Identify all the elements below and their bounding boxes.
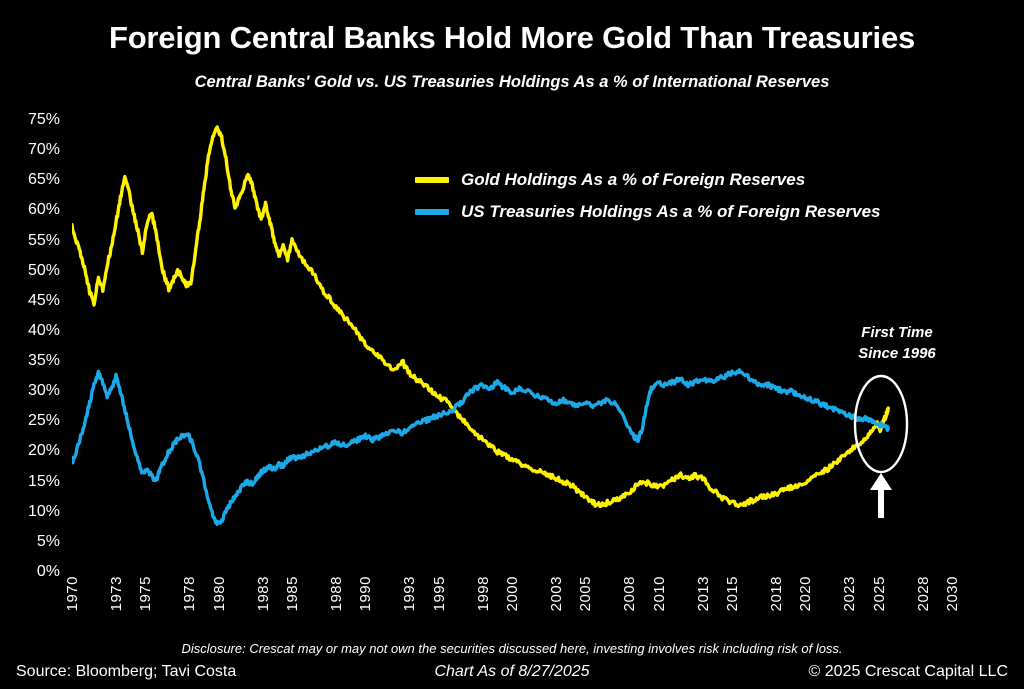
annotation-first-time-since-1996: First Time Since 1996 [832, 322, 962, 364]
annotation-line-2: Since 1996 [832, 343, 962, 364]
x-axis-tick-label: 1975 [137, 576, 154, 611]
y-axis-tick-label: 25% [0, 412, 60, 430]
x-axis-tick-label: 2015 [724, 576, 741, 611]
legend-label-gold: Gold Holdings As a % of Foreign Reserves [461, 170, 805, 190]
x-axis-tick-label: 1990 [357, 576, 374, 611]
y-axis-tick-label: 55% [0, 232, 60, 250]
legend-label-us-treasuries: US Treasuries Holdings As a % of Foreign… [461, 202, 880, 222]
x-axis-tick-label: 2028 [915, 576, 932, 611]
y-axis-tick-label: 40% [0, 322, 60, 340]
legend-swatch-us-treasuries [415, 209, 449, 215]
x-axis-tick-label: 2008 [621, 576, 638, 611]
x-axis-tick-label: 1998 [475, 576, 492, 611]
y-axis-tick-label: 65% [0, 171, 60, 189]
x-axis: 1970197319751978198019831985198819901993… [72, 576, 952, 632]
y-axis-tick-label: 50% [0, 262, 60, 280]
y-axis-tick-label: 5% [0, 533, 60, 551]
annotation-line-1: First Time [832, 322, 962, 343]
x-axis-tick-label: 2003 [548, 576, 565, 611]
y-axis-tick-label: 35% [0, 352, 60, 370]
y-axis-tick-label: 10% [0, 503, 60, 521]
y-axis-tick-label: 45% [0, 292, 60, 310]
x-axis-tick-label: 2005 [577, 576, 594, 611]
legend-swatch-gold [415, 177, 449, 183]
x-axis-tick-label: 1980 [211, 576, 228, 611]
x-axis-tick-label: 2020 [797, 576, 814, 611]
x-axis-tick-label: 2025 [871, 576, 888, 611]
x-axis-tick-label: 1973 [108, 576, 125, 611]
disclosure-text: Disclosure: Crescat may or may not own t… [0, 641, 1024, 656]
x-axis-tick-label: 2000 [504, 576, 521, 611]
y-axis-tick-label: 70% [0, 141, 60, 159]
y-axis-tick-label: 60% [0, 201, 60, 219]
copyright-label: © 2025 Crescat Capital LLC [809, 663, 1008, 681]
y-axis-tick-label: 75% [0, 111, 60, 129]
chart-legend: Gold Holdings As a % of Foreign Reserves… [415, 164, 880, 228]
x-axis-tick-label: 1970 [64, 576, 81, 611]
x-axis-tick-label: 1988 [328, 576, 345, 611]
x-axis-tick-label: 1995 [431, 576, 448, 611]
y-axis: 0%5%10%15%20%25%30%35%40%45%50%55%60%65%… [0, 120, 66, 572]
x-axis-tick-label: 2018 [768, 576, 785, 611]
x-axis-tick-label: 2013 [695, 576, 712, 611]
x-axis-tick-label: 1985 [284, 576, 301, 611]
x-axis-tick-label: 1983 [255, 576, 272, 611]
y-axis-tick-label: 30% [0, 382, 60, 400]
x-axis-tick-label: 2010 [651, 576, 668, 611]
legend-item-gold: Gold Holdings As a % of Foreign Reserves [415, 164, 880, 196]
x-axis-tick-label: 2023 [841, 576, 858, 611]
y-axis-tick-label: 20% [0, 442, 60, 460]
page-title: Foreign Central Banks Hold More Gold Tha… [0, 20, 1024, 56]
chart-subtitle: Central Banks' Gold vs. US Treasuries Ho… [0, 73, 1024, 92]
y-axis-tick-label: 15% [0, 473, 60, 491]
chart-root: Foreign Central Banks Hold More Gold Tha… [0, 0, 1024, 689]
y-axis-tick-label: 0% [0, 563, 60, 581]
x-axis-tick-label: 1978 [181, 576, 198, 611]
x-axis-tick-label: 2030 [944, 576, 961, 611]
series-line-us-treasuries [72, 370, 888, 524]
x-axis-tick-label: 1993 [401, 576, 418, 611]
footer-row: Source: Bloomberg; Tavi Costa Chart As o… [0, 663, 1024, 689]
legend-item-us-treasuries: US Treasuries Holdings As a % of Foreign… [415, 196, 880, 228]
